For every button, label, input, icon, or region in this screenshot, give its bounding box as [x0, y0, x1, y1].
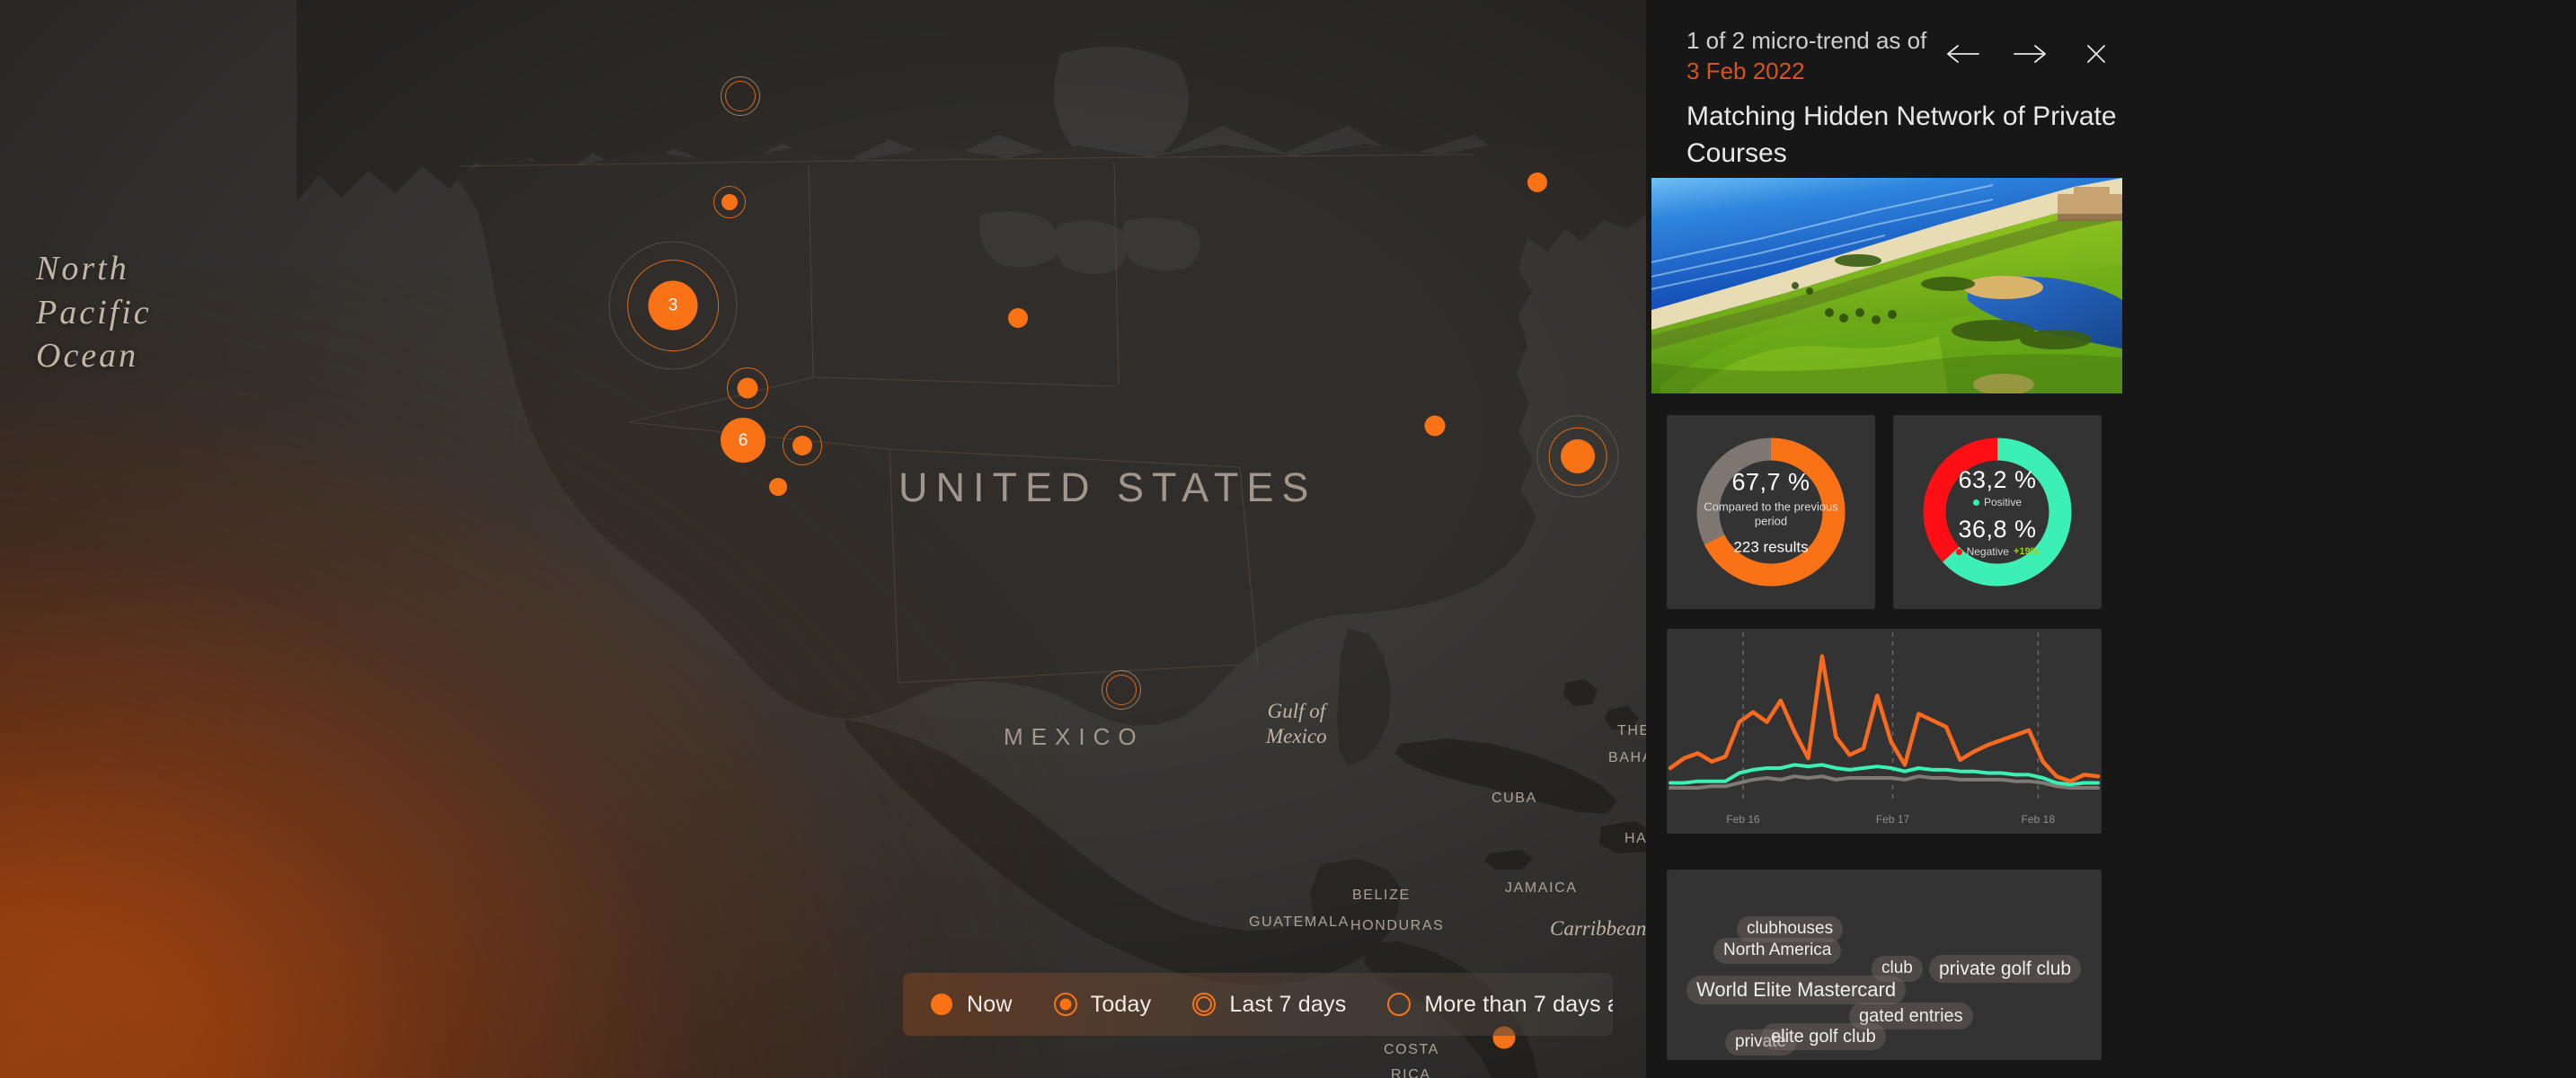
- chart-series-mentions: [1670, 657, 2098, 782]
- negative-label: Negative: [1967, 545, 2009, 558]
- marker-ring: [721, 76, 760, 116]
- trend-hero-image: [1651, 178, 2122, 393]
- marker-cluster-3[interactable]: 3: [668, 301, 677, 310]
- volume-change-value: 67,7 %: [1704, 468, 1838, 496]
- marker-north-1[interactable]: [736, 92, 745, 101]
- marker-pnw[interactable]: [725, 198, 734, 207]
- keyword-tag[interactable]: North America: [1713, 938, 1841, 964]
- keyword-tag[interactable]: World Elite Mastercard: [1686, 976, 1906, 1004]
- page-title: Matching Hidden Network of Private Cours…: [1686, 99, 2190, 172]
- marker-count: 3: [668, 297, 678, 314]
- marker-dot[interactable]: 3: [649, 281, 698, 331]
- time-legend-bar[interactable]: NowTodayLast 7 daysMore than 7 days ago: [903, 973, 1613, 1036]
- panel-nav[interactable]: [1943, 36, 2117, 72]
- marker-ring: [1102, 670, 1141, 710]
- legend-item-today[interactable]: Today: [1052, 991, 1152, 1018]
- legend-label: Last 7 days: [1229, 992, 1346, 1018]
- marker-dot[interactable]: [1561, 439, 1595, 473]
- marker-sw-2[interactable]: [774, 482, 783, 491]
- marker-dot[interactable]: [1425, 416, 1446, 437]
- next-arrow-icon[interactable]: [2009, 36, 2050, 72]
- volume-change-center: 67,7 % Compared to the previous period 2…: [1704, 468, 1838, 556]
- marker-midwest[interactable]: [1014, 314, 1022, 323]
- marker-mexico[interactable]: [1117, 685, 1126, 694]
- legend-marker-icon: [1052, 991, 1079, 1018]
- keyword-cloud[interactable]: clubhousesNorth Americaclubprivate golf …: [1667, 870, 2102, 1060]
- marker-cluster-6[interactable]: 6: [739, 436, 748, 445]
- legend-label: Now: [967, 992, 1013, 1018]
- volume-change-results: 223 results: [1704, 538, 1838, 556]
- legend-marker-icon: [1385, 991, 1412, 1018]
- legend-glyph-filled: [931, 994, 952, 1015]
- chart-x-tick: Feb 16: [1726, 813, 1760, 826]
- legend-marker-icon: [1191, 991, 1217, 1018]
- legend-item-last-7-days[interactable]: Last 7 days: [1191, 991, 1346, 1018]
- trend-timeline-card: Feb 16Feb 17Feb 18: [1667, 629, 2102, 834]
- prev-arrow-icon[interactable]: [1943, 36, 1984, 72]
- legend-item-now[interactable]: Now: [928, 991, 1013, 1018]
- positive-label: Positive: [1984, 496, 2022, 508]
- marker-dot[interactable]: [769, 478, 787, 496]
- app-root: North Pacific Ocean UNITED STATESMEXICO …: [0, 0, 2576, 1078]
- legend-marker-icon: [928, 991, 955, 1018]
- chart-x-tick: Feb 17: [1876, 813, 1910, 826]
- keyword-tag[interactable]: private golf club: [1929, 955, 2081, 983]
- sentiment-center: 63,2 % Positive 36,8 % Negative +19%: [1930, 466, 2065, 558]
- marker-sw-1[interactable]: [798, 441, 807, 450]
- marker-dot[interactable]: [1008, 308, 1028, 328]
- map-canvas[interactable]: North Pacific Ocean UNITED STATESMEXICO …: [0, 0, 1646, 1078]
- positive-value: 63,2 %: [1930, 466, 2065, 494]
- legend-item-more-than-7-days-ago[interactable]: More than 7 days ago: [1385, 991, 1613, 1018]
- volume-change-card: 67,7 % Compared to the previous period 2…: [1667, 415, 1875, 609]
- positive-swatch: [1973, 499, 1979, 506]
- legend-label: Today: [1091, 992, 1152, 1018]
- legend-glyph-hollow: [1387, 993, 1411, 1016]
- marker-ne-1[interactable]: [1533, 178, 1542, 187]
- marker-dot[interactable]: [792, 436, 812, 455]
- marker-dot[interactable]: [738, 378, 758, 399]
- keyword-cloud-card: clubhousesNorth Americaclubprivate golf …: [1667, 870, 2102, 1060]
- volume-change-sub: Compared to the previous period: [1704, 499, 1838, 529]
- legend-label: More than 7 days ago: [1424, 992, 1613, 1018]
- sentiment-card: 63,2 % Positive 36,8 % Negative +19%: [1893, 415, 2102, 609]
- legend-glyph-inner-ring: [1196, 996, 1212, 1012]
- chart-series-neutral: [1670, 776, 2098, 788]
- map-landmass: [0, 0, 1646, 1078]
- marker-count: 6: [739, 432, 748, 449]
- sentiment-delta: +19%: [2014, 546, 2039, 557]
- marker-dot[interactable]: [1527, 172, 1547, 192]
- keyword-tag[interactable]: elite golf club: [1761, 1023, 1886, 1050]
- marker-ca-1[interactable]: [743, 384, 752, 393]
- negative-swatch: [1956, 549, 1962, 555]
- close-icon[interactable]: [2076, 36, 2117, 72]
- negative-value: 36,8 %: [1930, 516, 2065, 543]
- chart-x-tick: Feb 18: [2022, 813, 2056, 826]
- trend-timeline-chart: Feb 16Feb 17Feb 18: [1667, 629, 2102, 834]
- marker-ne-2[interactable]: [1430, 421, 1439, 430]
- marker-dot[interactable]: 6: [721, 418, 766, 463]
- marker-dot[interactable]: [721, 194, 738, 210]
- marker-east-halo[interactable]: [1573, 452, 1582, 461]
- legend-glyph-inner-dot: [1059, 999, 1071, 1011]
